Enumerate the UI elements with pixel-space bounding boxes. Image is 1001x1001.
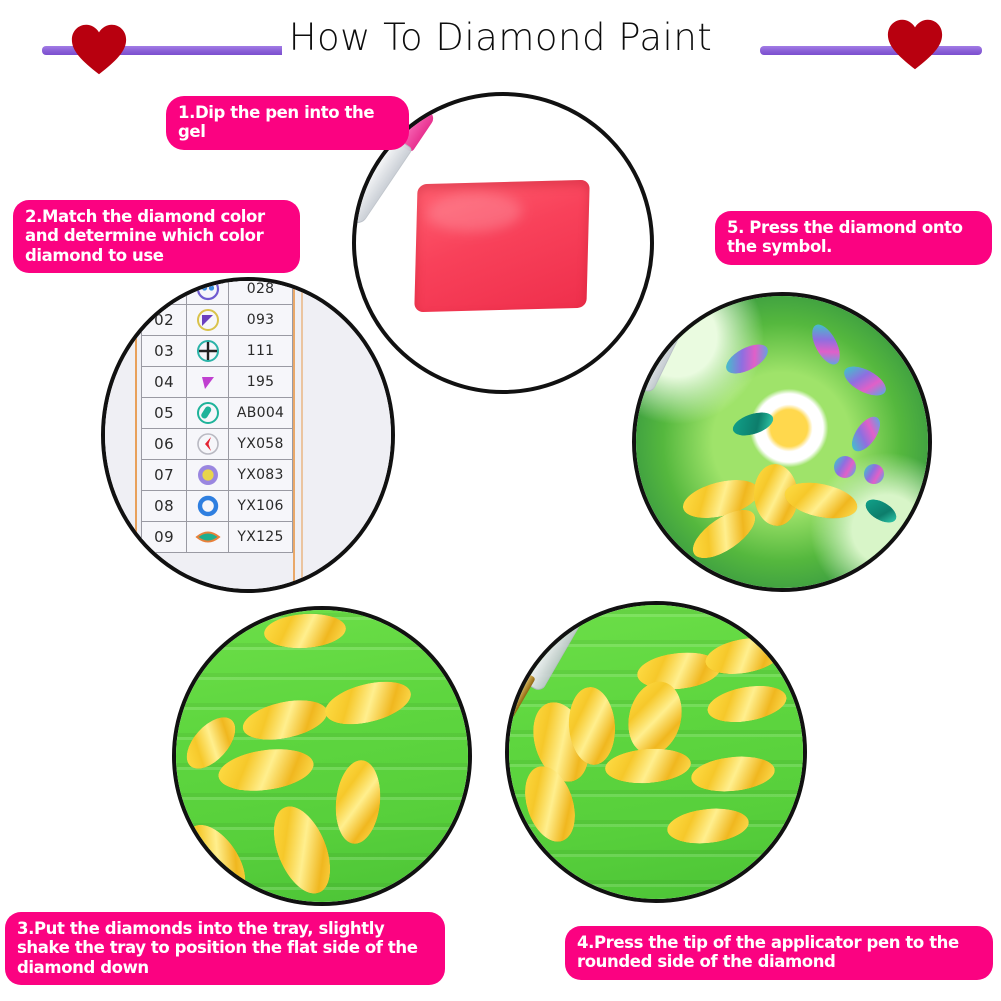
table-row: 02 093: [142, 305, 293, 336]
chart-code: 195: [229, 367, 293, 398]
table-row: 06 YX058: [142, 429, 293, 460]
canvas-guide-line: [293, 281, 295, 589]
chart-code: AB004: [229, 398, 293, 429]
step-3-photo: [172, 606, 472, 906]
canvas-paper: 01 028 02 093 03: [105, 281, 391, 589]
step-2-photo: 01 028 02 093 03: [101, 277, 395, 593]
table-row: 05 AB004: [142, 398, 293, 429]
arrow-left-symbol: [187, 429, 229, 460]
chart-code: 093: [229, 305, 293, 336]
table-row: 04 195: [142, 367, 293, 398]
chart-index: 01: [142, 277, 187, 305]
chart-index: 04: [142, 367, 187, 398]
chart-code: YX083: [229, 460, 293, 491]
leaf-symbol: [187, 522, 229, 553]
step-4-scene: [509, 605, 803, 899]
table-row: 09 YX125: [142, 522, 293, 553]
pink-gel-pad: [414, 180, 590, 312]
step-3-scene: [176, 610, 468, 902]
plus-symbol: [187, 336, 229, 367]
step-5-label: 5. Press the diamond onto the symbol.: [715, 211, 992, 265]
filled-circle-symbol: [187, 460, 229, 491]
step-4-photo: [505, 601, 807, 903]
chart-code: YX106: [229, 491, 293, 522]
chart-code: 028: [229, 277, 293, 305]
chart-code: 111: [229, 336, 293, 367]
chart-index: 05: [142, 398, 187, 429]
step-1-label: 1.Dip the pen into the gel: [166, 96, 409, 150]
step-3-label: 3.Put the diamonds into the tray, slight…: [5, 912, 445, 985]
chart-index: 09: [142, 522, 187, 553]
step-5-photo: [632, 292, 932, 592]
diamond-gem: [864, 464, 884, 484]
table-row: 07 YX083: [142, 460, 293, 491]
chart-index: 08: [142, 491, 187, 522]
chart-code: YX125: [229, 522, 293, 553]
diamond-gem: [834, 456, 856, 478]
page-title: How To Diamond Paint: [0, 18, 1001, 59]
triangle-symbol: [187, 305, 229, 336]
table-row: 03 111: [142, 336, 293, 367]
step-2-label: 2.Match the diamond color and determine …: [13, 200, 300, 273]
color-chart-table: 01 028 02 093 03: [141, 277, 293, 553]
ring-symbol: [187, 491, 229, 522]
pen-tip: [505, 668, 536, 723]
color-chart-body: 01 028 02 093 03: [142, 277, 293, 553]
chart-index: 02: [142, 305, 187, 336]
canvas-guide-line: [135, 281, 137, 589]
table-row: 08 YX106: [142, 491, 293, 522]
canvas-guide-line: [301, 281, 303, 589]
step-4-label: 4.Press the tip of the applicator pen to…: [565, 926, 993, 980]
table-row: 01 028: [142, 277, 293, 305]
slash-oval-symbol: [187, 398, 229, 429]
chart-index: 07: [142, 460, 187, 491]
step-5-scene: [636, 296, 928, 588]
chart-index: 03: [142, 336, 187, 367]
double-dot-symbol: [187, 277, 229, 305]
chart-code: YX058: [229, 429, 293, 460]
triangle-symbol: [187, 367, 229, 398]
chart-index: 06: [142, 429, 187, 460]
infographic-canvas: How To Diamond Paint 1.Dip the pen into …: [0, 0, 1001, 1001]
